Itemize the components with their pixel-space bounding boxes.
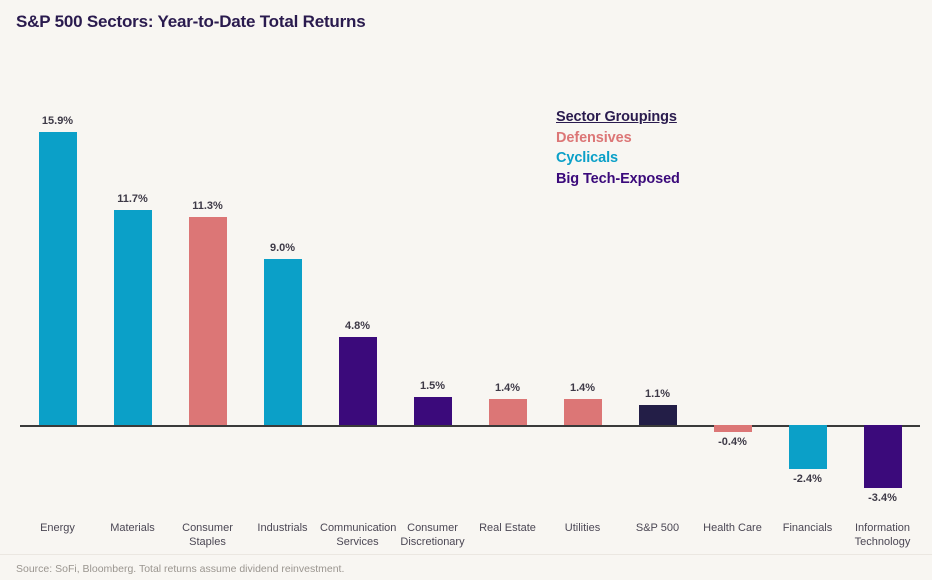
bar-slot: -0.4% — [695, 60, 770, 510]
bar[interactable] — [864, 425, 902, 488]
bar-value-label: 4.8% — [345, 320, 370, 332]
bar-value-label: 1.4% — [495, 382, 520, 394]
bar-slot: 1.1% — [620, 60, 695, 510]
bar-value-label: -0.4% — [718, 436, 747, 448]
bar[interactable] — [114, 210, 152, 425]
bar-slot: 11.3% — [170, 60, 245, 510]
bar[interactable] — [639, 405, 677, 425]
category-label: Energy — [20, 521, 95, 535]
category-label: Financials — [770, 521, 845, 535]
bar[interactable] — [339, 337, 377, 425]
bar[interactable] — [39, 132, 77, 425]
bar[interactable] — [564, 399, 602, 425]
bar-slot: -3.4% — [845, 60, 920, 510]
bar-value-label: 9.0% — [270, 242, 295, 254]
bar[interactable] — [489, 399, 527, 425]
category-label: Materials — [95, 521, 170, 535]
bar-slot: 15.9% — [20, 60, 95, 510]
bar-slot: 1.5% — [395, 60, 470, 510]
bar-value-label: -3.4% — [868, 492, 897, 504]
bar-slot: 1.4% — [545, 60, 620, 510]
category-label: Real Estate — [470, 521, 545, 535]
chart-page: S&P 500 Sectors: Year-to-Date Total Retu… — [0, 0, 932, 580]
bar-slot: -2.4% — [770, 60, 845, 510]
plot-area: 15.9%11.7%11.3%9.0%4.8%1.5%1.4%1.4%1.1%-… — [20, 60, 920, 510]
category-label: Information Technology — [845, 521, 920, 549]
category-label: Communication Services — [320, 521, 395, 549]
bar-value-label: -2.4% — [793, 473, 822, 485]
bar-value-label: 1.5% — [420, 380, 445, 392]
category-label: Health Care — [695, 521, 770, 535]
category-label: Utilities — [545, 521, 620, 535]
source-note: Source: SoFi, Bloomberg. Total returns a… — [16, 563, 344, 575]
category-label: S&P 500 — [620, 521, 695, 535]
bar-slot: 4.8% — [320, 60, 395, 510]
bar-value-label: 11.7% — [117, 193, 148, 205]
bar[interactable] — [414, 397, 452, 425]
bar-slot: 9.0% — [245, 60, 320, 510]
bar-value-label: 1.1% — [645, 388, 670, 400]
bar[interactable] — [264, 259, 302, 425]
bar-slot: 11.7% — [95, 60, 170, 510]
category-label: Consumer Staples — [170, 521, 245, 549]
bar[interactable] — [714, 425, 752, 432]
bar[interactable] — [189, 217, 227, 425]
bar-value-label: 1.4% — [570, 382, 595, 394]
bar-value-label: 15.9% — [42, 115, 73, 127]
bar-value-label: 11.3% — [192, 200, 223, 212]
bar-slot: 1.4% — [470, 60, 545, 510]
bar[interactable] — [789, 425, 827, 469]
page-title: S&P 500 Sectors: Year-to-Date Total Retu… — [16, 12, 365, 32]
category-label: Industrials — [245, 521, 320, 535]
footer-divider — [0, 554, 932, 555]
category-label: Consumer Discretionary — [395, 521, 470, 549]
